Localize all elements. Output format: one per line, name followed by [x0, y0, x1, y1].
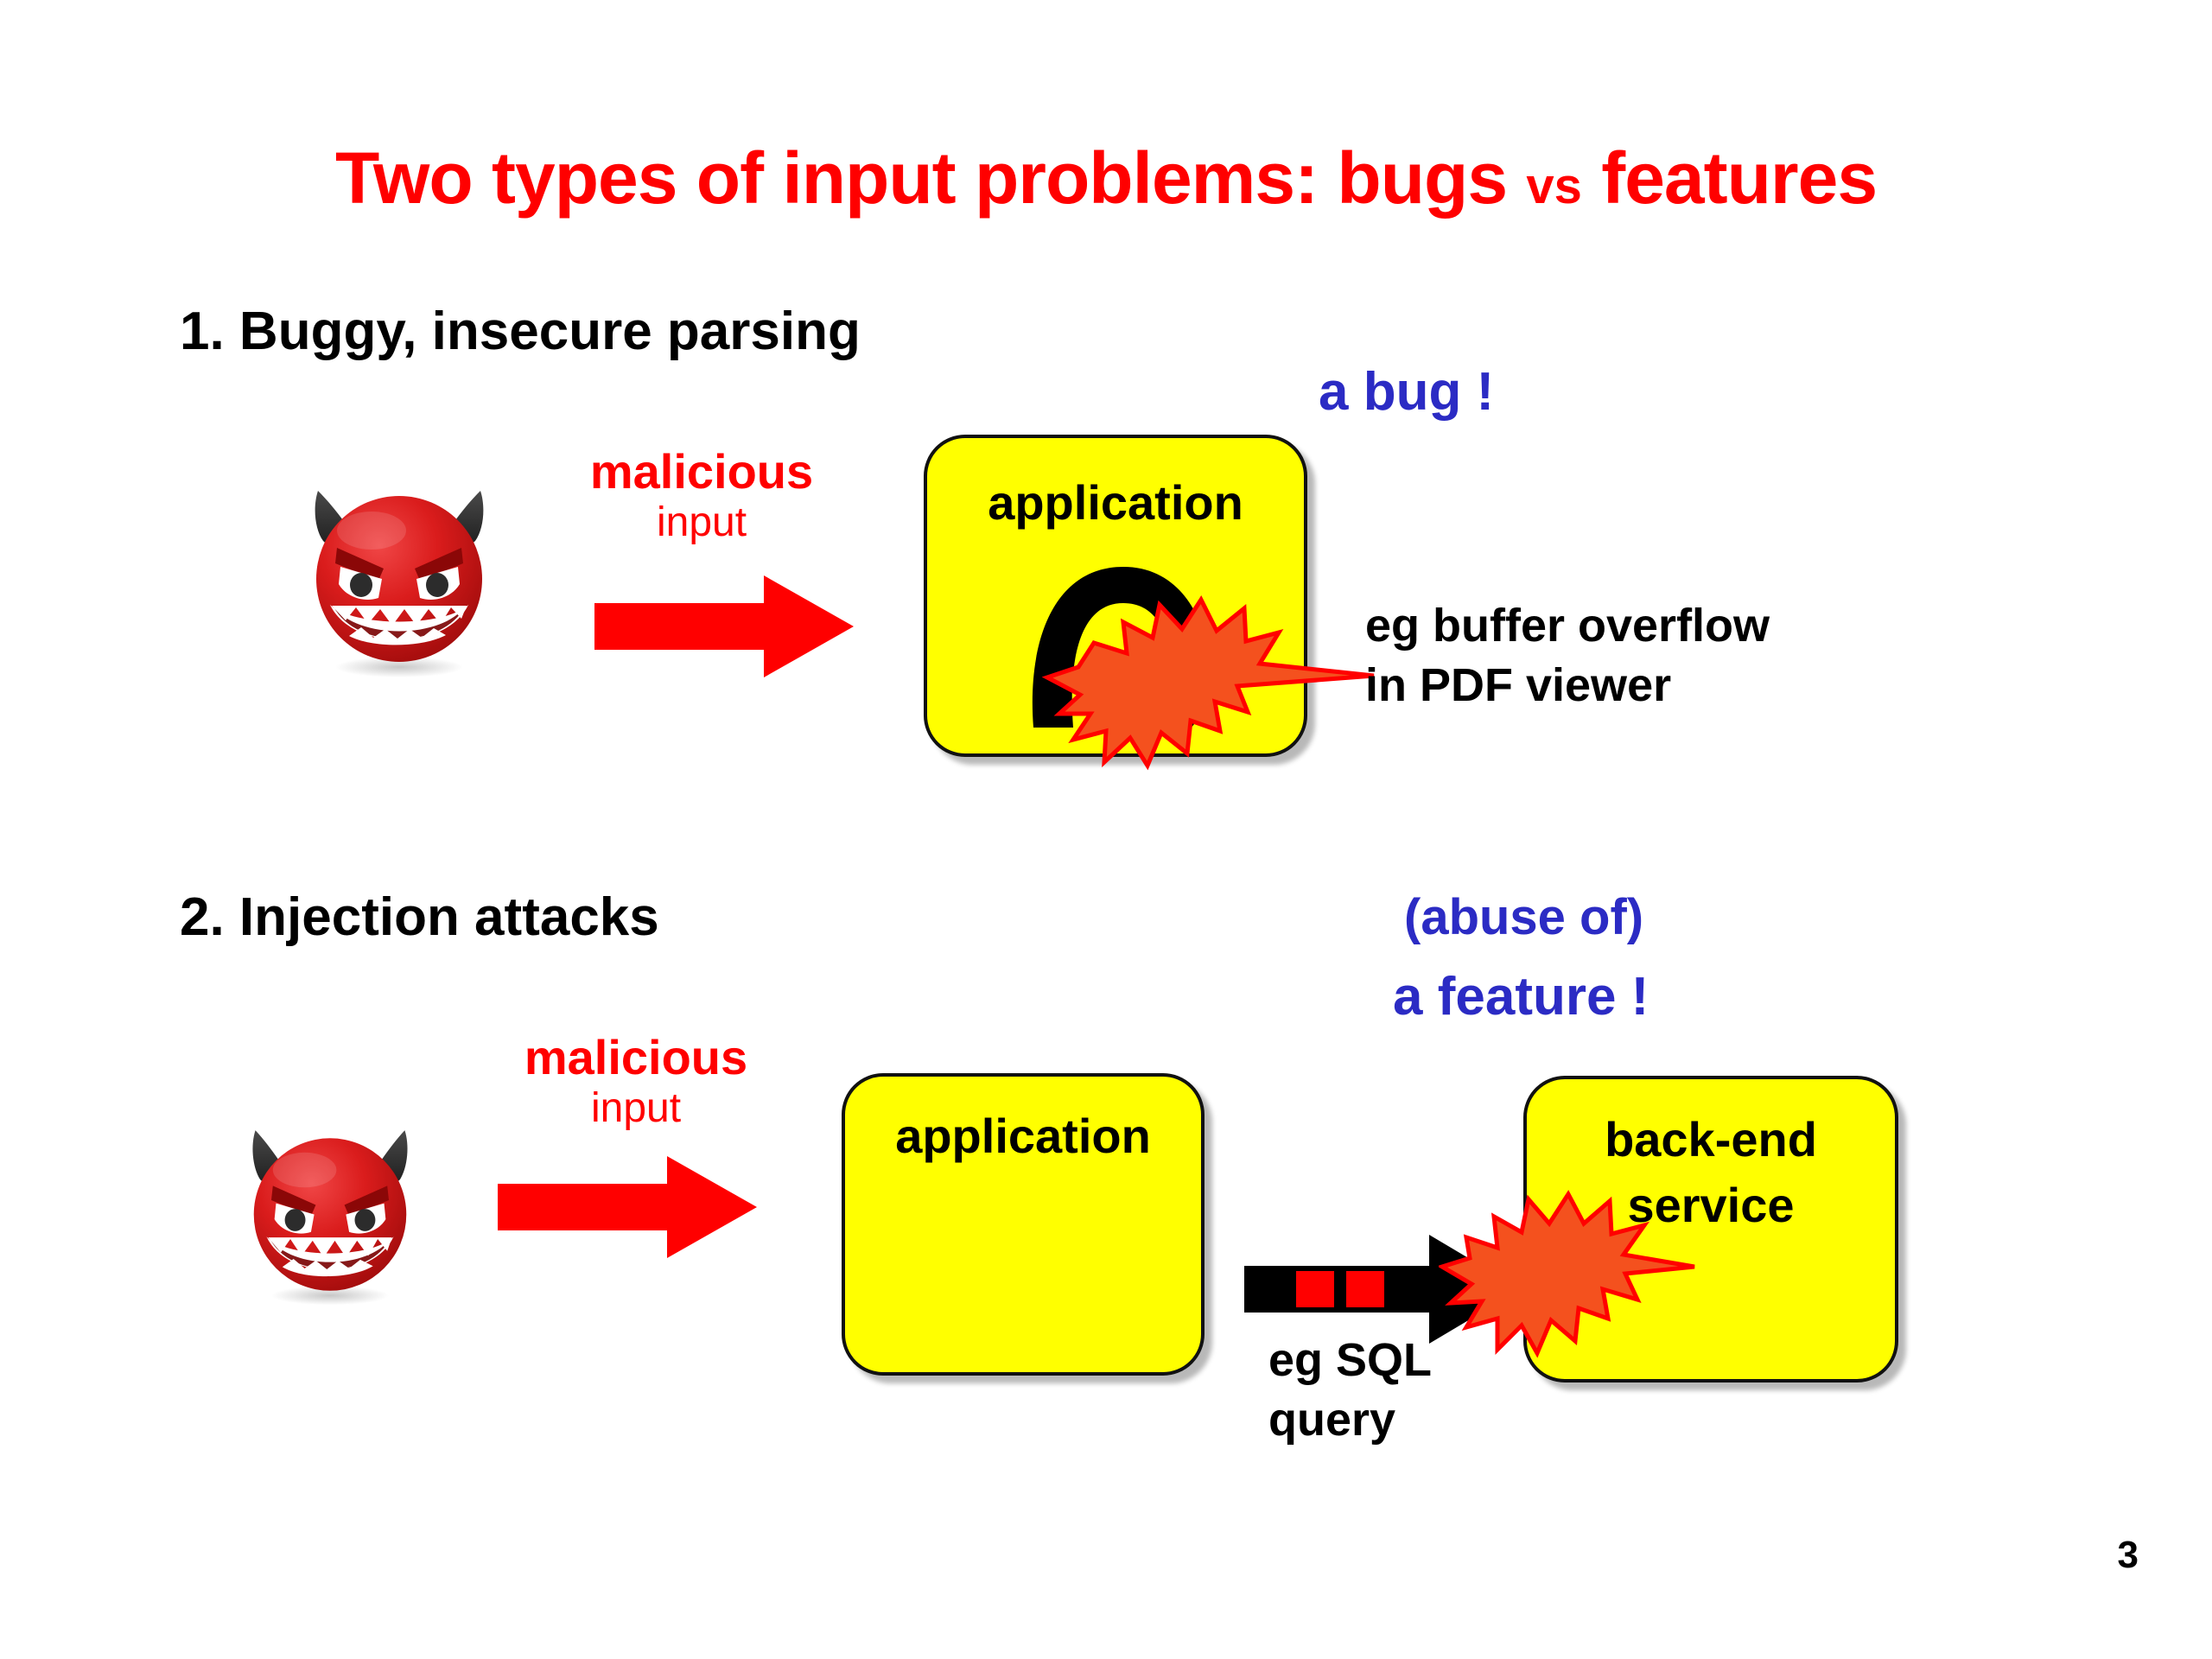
explosion-starburst-icon-1	[1040, 584, 1377, 783]
devil-face-icon	[292, 467, 506, 681]
verdict-a-bug: a bug !	[1319, 361, 1494, 423]
red-block-arrow-right-icon-2	[498, 1151, 757, 1263]
page-number: 3	[2118, 1534, 2139, 1577]
example-note-buffer-overflow: eg buffer overflow in PDF viewer	[1365, 596, 1770, 715]
example-note-sql-query: eg SQL query	[1268, 1331, 1432, 1450]
malicious-input-label-1: malicious input	[537, 448, 866, 549]
red-block-arrow-right-icon	[594, 570, 854, 683]
page-title-part-1: Two types of input problems: bugs	[335, 137, 1507, 219]
application-box-2: application	[842, 1073, 1205, 1376]
page-title: Two types of input problems: bugs vs fea…	[0, 137, 2212, 220]
verdict-a-feature: a feature !	[1393, 966, 1649, 1027]
section-heading-buggy-parsing: 1. Buggy, insecure parsing	[180, 301, 861, 362]
devil-face-icon-2	[232, 1111, 429, 1308]
input-word: input	[537, 496, 866, 549]
slide-canvas: Two types of input problems: bugs vs fea…	[0, 0, 2212, 1659]
application-box-label-1: application	[927, 474, 1304, 531]
section-heading-injection-attacks: 2. Injection attacks	[180, 887, 659, 948]
application-box-label-2: application	[845, 1108, 1201, 1164]
malicious-input-label-2: malicious input	[472, 1033, 800, 1135]
malicious-word-2: malicious	[472, 1033, 800, 1082]
page-title-part-2: features	[1601, 137, 1877, 219]
malicious-word: malicious	[537, 448, 866, 496]
verdict-abuse-of: (abuse of)	[1404, 888, 1643, 946]
page-title-vs: vs	[1526, 158, 1582, 214]
explosion-starburst-icon-2	[1439, 1187, 1698, 1360]
input-word-2: input	[472, 1082, 800, 1135]
